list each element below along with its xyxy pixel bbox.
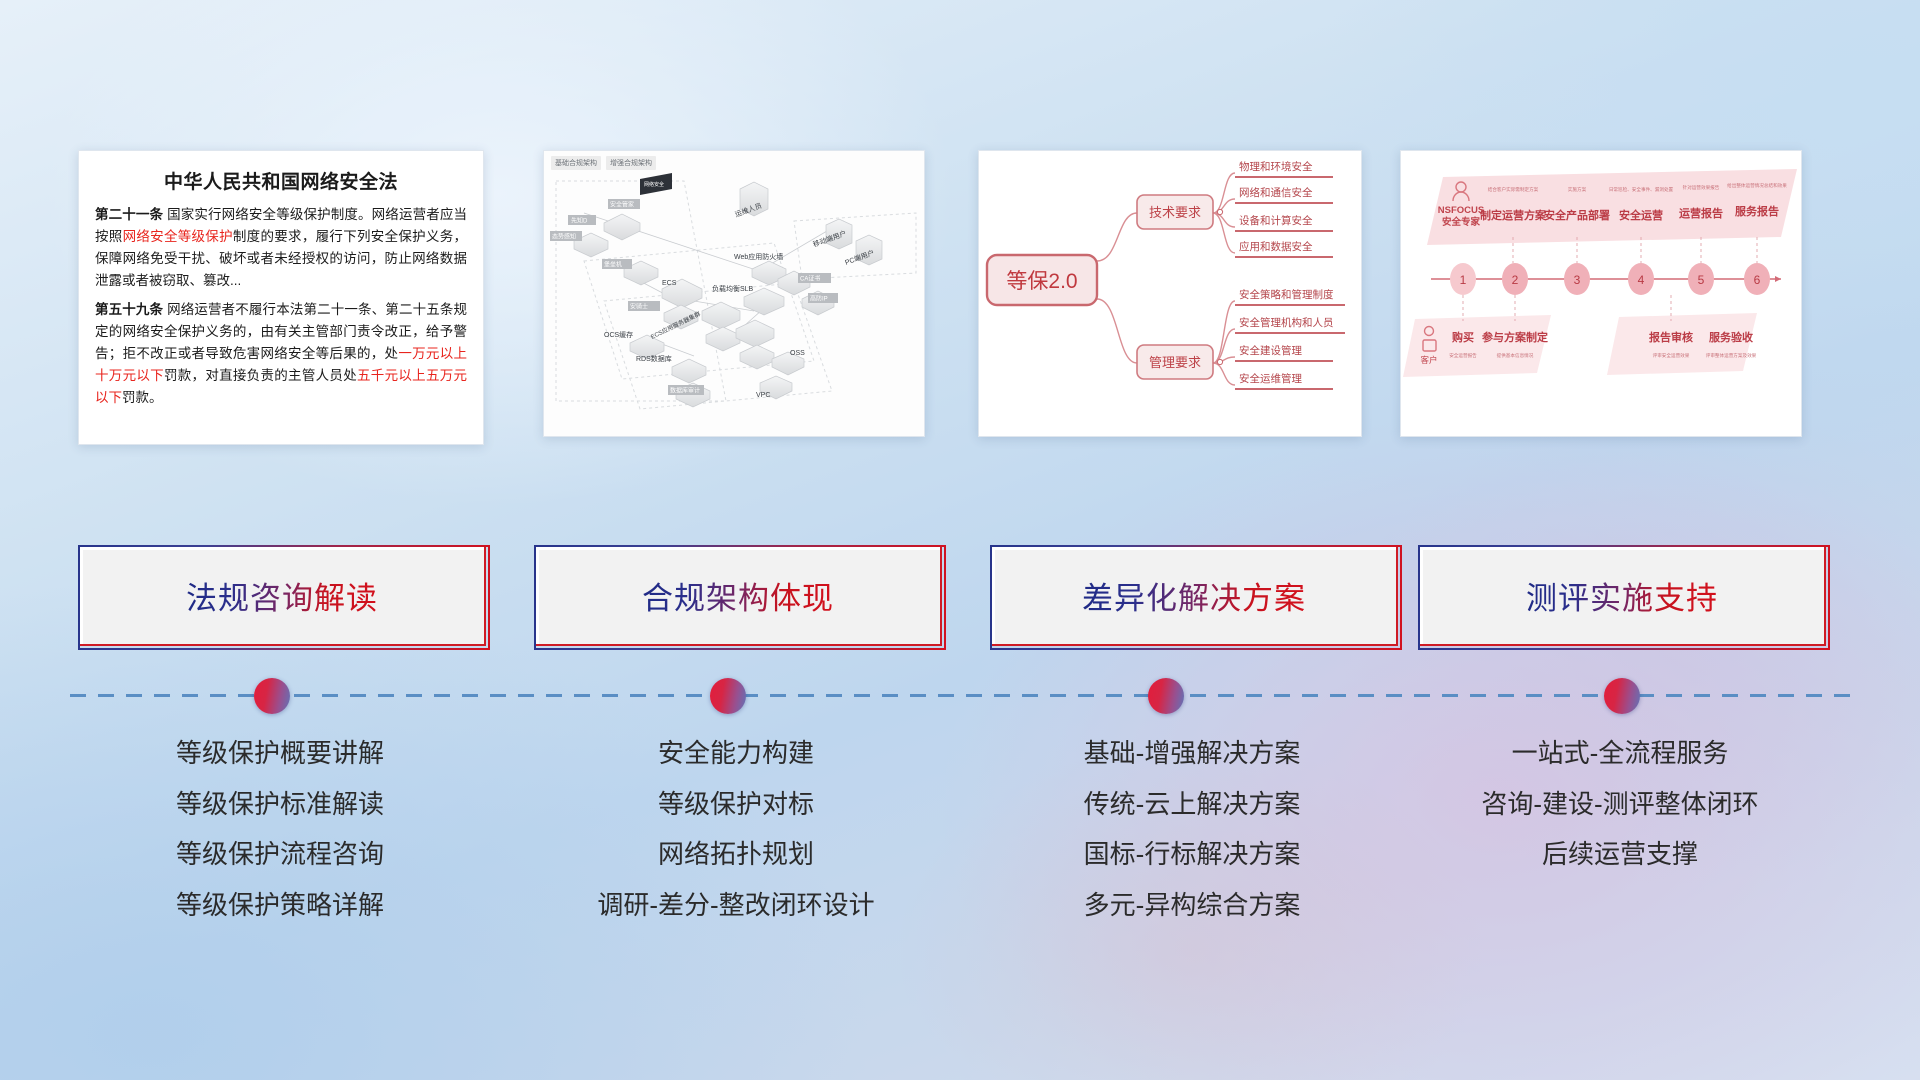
preview-card-row: 中华人民共和国网络安全法 第二十一条 国家实行网络安全等级保护制度。网络运营者应… (0, 150, 1920, 450)
svg-text:先知D: 先知D (571, 217, 588, 225)
mindmap-canvas: 等保2.0 技术要求 管理要求 物理和环境安全 网络和通信安全 设备和计算安全 … (979, 151, 1361, 436)
rail-dot-3[interactable] (1148, 678, 1184, 714)
detail-item: 基础-增强解决方案 (990, 738, 1394, 769)
svg-text:数据库审计: 数据库审计 (670, 387, 700, 395)
title-box-evaluation-support[interactable]: 测评实施支持 (1418, 545, 1826, 646)
svg-text:给出整体运营情况总结和效果: 给出整体运营情况总结和效果 (1727, 182, 1787, 189)
svg-text:5: 5 (1698, 273, 1705, 287)
detail-column-3: 基础-增强解决方案 传统-云上解决方案 国标-行标解决方案 多元-异构综合方案 (990, 738, 1394, 921)
architecture-canvas: 网络安全 安全管家 先知D 态势感知 堡垒机 安骑士 CA证书 高防IP 数据库… (544, 151, 924, 436)
svg-text:6: 6 (1754, 273, 1761, 287)
svg-text:技术要求: 技术要求 (1149, 205, 1201, 220)
rail-dot-2[interactable] (710, 678, 746, 714)
svg-text:1: 1 (1460, 273, 1467, 287)
detail-item: 咨询-建设-测评整体闭环 (1418, 789, 1822, 820)
svg-text:日常巡检、安全事件、漏洞处置: 日常巡检、安全事件、漏洞处置 (1609, 186, 1674, 193)
title-label-4: 测评实施支持 (1526, 573, 1718, 618)
title-label-3: 差异化解决方案 (1082, 573, 1306, 618)
law-article-59-label: 第五十九条 (95, 302, 163, 317)
svg-text:OSS: OSS (790, 350, 805, 357)
detail-item: 等级保护标准解读 (78, 789, 482, 820)
detail-item: 一站式-全流程服务 (1418, 738, 1822, 769)
title-box-regulation-consulting[interactable]: 法规咨询解读 (78, 545, 486, 646)
nsfocus-bottom-band-right (1607, 313, 1757, 375)
card-mindmap[interactable]: 等保2.0 技术要求 管理要求 物理和环境安全 网络和通信安全 设备和计算安全 … (978, 150, 1362, 437)
detail-item: 国标-行标解决方案 (990, 839, 1394, 870)
card-cloud-architecture[interactable]: 基础合规架构 增强合规架构 (543, 150, 925, 437)
law-article-59-text-c: 罚款。 (122, 390, 163, 405)
svg-text:服务报告: 服务报告 (1735, 204, 1779, 218)
law-article-21: 第二十一条 国家实行网络安全等级保护制度。网络运营者应当按照网络安全等级保护制度… (95, 204, 467, 291)
svg-text:安骑士: 安骑士 (630, 303, 648, 311)
svg-text:CA证书: CA证书 (800, 275, 820, 283)
detail-item: 后续运营支撑 (1418, 839, 1822, 870)
svg-text:网络和通信安全: 网络和通信安全 (1239, 186, 1313, 199)
svg-text:客户: 客户 (1420, 355, 1437, 365)
svg-text:安全运营: 安全运营 (1619, 208, 1663, 222)
svg-text:Web应用防火墙: Web应用防火墙 (734, 252, 783, 261)
nsfocus-timeline: NSFOCUS 安全专家 客户 结合客户实际需制定方案 制定运营方案 实施方案 … (1401, 151, 1801, 436)
svg-text:应用和数据安全: 应用和数据安全 (1239, 240, 1313, 253)
svg-text:3: 3 (1574, 273, 1581, 287)
svg-text:针对运营效果报告: 针对运营效果报告 (1683, 184, 1720, 191)
detail-item: 等级保护对标 (534, 789, 938, 820)
svg-text:实施方案: 实施方案 (1568, 186, 1587, 193)
law-article-59: 第五十九条 网络运营者不履行本法第二十一条、第二十五条规定的网络安全保护义务的，… (95, 299, 467, 408)
svg-text:NSFOCUS: NSFOCUS (1438, 205, 1484, 216)
title-label-2: 合规架构体现 (642, 573, 834, 618)
svg-text:安全建设管理: 安全建设管理 (1239, 344, 1302, 357)
detail-item: 等级保护策略详解 (78, 890, 482, 921)
svg-text:运营报告: 运营报告 (1679, 206, 1723, 220)
svg-text:RDS数据库: RDS数据库 (636, 354, 672, 363)
detail-item: 传统-云上解决方案 (990, 789, 1394, 820)
svg-text:等保2.0: 等保2.0 (1006, 270, 1077, 293)
rail-dot-4[interactable] (1604, 678, 1640, 714)
law-article-21-highlight: 网络安全等级保护 (123, 229, 233, 244)
svg-text:网络安全: 网络安全 (644, 181, 664, 188)
law-article-21-label: 第二十一条 (95, 207, 163, 222)
detail-item: 等级保护概要讲解 (78, 738, 482, 769)
svg-text:参与方案制定: 参与方案制定 (1482, 330, 1548, 344)
detail-item: 调研-差分-整改闭环设计 (534, 890, 938, 921)
svg-text:OCS缓存: OCS缓存 (604, 330, 633, 339)
svg-text:服务验收: 服务验收 (1709, 330, 1753, 344)
svg-text:报告审核: 报告审核 (1649, 330, 1693, 344)
svg-text:购买: 购买 (1452, 330, 1474, 344)
law-article-59-text-b: 罚款，对直接负责的主管人员处 (164, 368, 357, 383)
svg-text:评审安全运营效果: 评审安全运营效果 (1653, 352, 1690, 359)
architecture-diagram: 基础合规架构 增强合规架构 (544, 151, 924, 436)
svg-text:提供基本信息情况: 提供基本信息情况 (1497, 352, 1534, 359)
svg-text:物理和环境安全: 物理和环境安全 (1239, 160, 1313, 173)
svg-text:安全专家: 安全专家 (1442, 216, 1481, 228)
svg-text:结合客户实际需制定方案: 结合客户实际需制定方案 (1488, 186, 1539, 193)
detail-item: 网络拓扑规划 (534, 839, 938, 870)
svg-text:态势感知: 态势感知 (552, 233, 576, 241)
svg-text:负载均衡SLB: 负载均衡SLB (712, 284, 754, 293)
title-box-differentiated-solution[interactable]: 差异化解决方案 (990, 545, 1398, 646)
title-box-compliance-architecture[interactable]: 合规架构体现 (534, 545, 942, 646)
svg-text:2: 2 (1512, 273, 1519, 287)
law-title: 中华人民共和国网络安全法 (95, 167, 467, 194)
svg-text:安全策略和管理制度: 安全策略和管理制度 (1239, 288, 1334, 301)
svg-text:制定运营方案: 制定运营方案 (1480, 208, 1547, 222)
card-nsfocus-timeline[interactable]: NSFOCUS 安全专家 客户 结合客户实际需制定方案 制定运营方案 实施方案 … (1400, 150, 1802, 437)
svg-text:管理要求: 管理要求 (1149, 355, 1201, 370)
rail-dot-1[interactable] (254, 678, 290, 714)
svg-text:安全管家: 安全管家 (610, 201, 634, 209)
detail-column-row: 等级保护概要讲解 等级保护标准解读 等级保护流程咨询 等级保护策略详解 安全能力… (0, 738, 1920, 958)
detail-item: 安全能力构建 (534, 738, 938, 769)
svg-text:评审整体运营方案及效果: 评审整体运营方案及效果 (1706, 352, 1757, 359)
detail-column-4: 一站式-全流程服务 咨询-建设-测评整体闭环 后续运营支撑 (1418, 738, 1822, 870)
nsfocus-bottom-band-left (1403, 315, 1551, 377)
svg-text:高防IP: 高防IP (810, 295, 828, 303)
detail-column-2: 安全能力构建 等级保护对标 网络拓扑规划 调研-差分-整改闭环设计 (534, 738, 938, 921)
nsfocus-canvas: NSFOCUS 安全专家 客户 结合客户实际需制定方案 制定运营方案 实施方案 … (1401, 151, 1801, 436)
detail-column-1: 等级保护概要讲解 等级保护标准解读 等级保护流程咨询 等级保护策略详解 (78, 738, 482, 921)
law-body: 中华人民共和国网络安全法 第二十一条 国家实行网络安全等级保护制度。网络运营者应… (79, 151, 483, 444)
svg-text:4: 4 (1638, 273, 1645, 287)
svg-text:安全运营报告: 安全运营报告 (1449, 352, 1477, 359)
title-label-1: 法规咨询解读 (186, 573, 378, 618)
svg-text:堡垒机: 堡垒机 (604, 261, 622, 269)
svg-text:安全产品部署: 安全产品部署 (1544, 208, 1610, 222)
title-box-row: 法规咨询解读 合规架构体现 差异化解决方案 测评实施支持 (0, 545, 1920, 655)
svg-text:设备和计算安全: 设备和计算安全 (1239, 214, 1313, 227)
detail-item: 等级保护流程咨询 (78, 839, 482, 870)
detail-item: 多元-异构综合方案 (990, 890, 1394, 921)
svg-text:安全管理机构和人员: 安全管理机构和人员 (1239, 316, 1334, 329)
svg-text:安全运维管理: 安全运维管理 (1239, 372, 1302, 385)
svg-text:VPC: VPC (756, 392, 770, 399)
timeline-dashed-rail (70, 694, 1850, 697)
svg-text:ECS: ECS (662, 280, 677, 287)
mindmap-diagram: 等保2.0 技术要求 管理要求 物理和环境安全 网络和通信安全 设备和计算安全 … (979, 151, 1361, 436)
card-law-document[interactable]: 中华人民共和国网络安全法 第二十一条 国家实行网络安全等级保护制度。网络运营者应… (78, 150, 484, 445)
